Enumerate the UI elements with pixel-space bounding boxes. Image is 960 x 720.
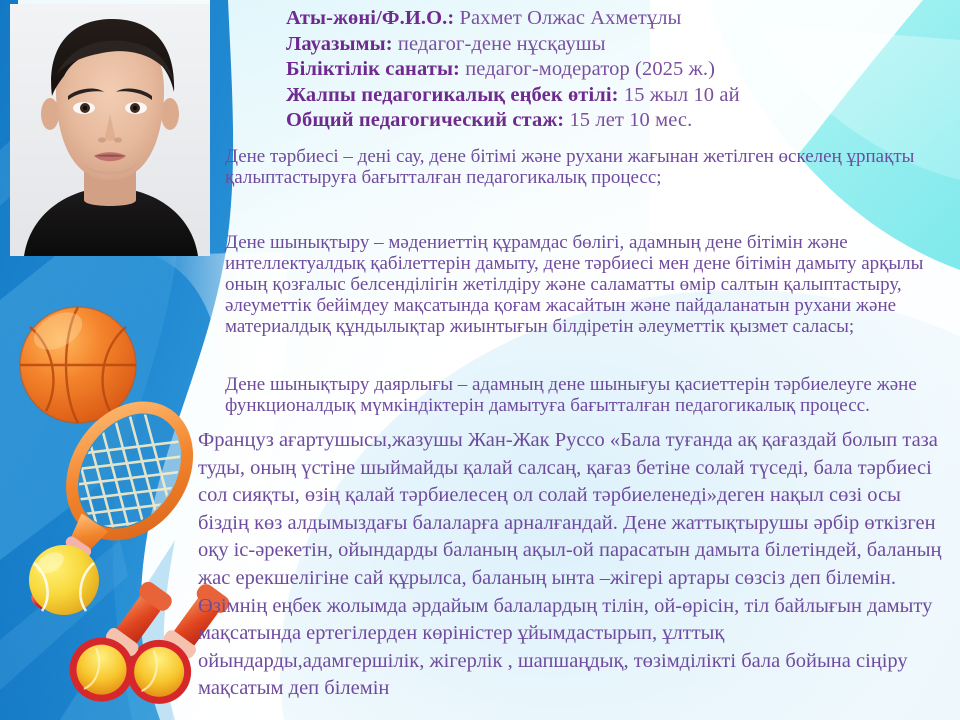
info-value-position: педагог-дене нұсқаушы [398,33,606,55]
info-label-category: Біліктілік санаты: [286,58,460,80]
info-line-experience-ru: Общий педагогический стаж: 15 лет 10 мес… [286,108,946,134]
paragraph-rousseau-quote: Француз ағартушысы,жазушы Жан-Жак Руссо … [198,427,954,703]
paragraph-physical-culture: Дене шынықтыру – мәдениеттің құрамдас бө… [225,232,947,337]
info-line-category: Біліктілік санаты: педагог-модератор (20… [286,57,946,83]
info-value-name: Рахмет Олжас Ахметұлы [460,7,682,29]
info-value-experience-ru: 15 лет 10 мес. [569,109,692,131]
info-line-name: Аты-жөні/Ф.И.О.: Рахмет Олжас Ахметұлы [286,6,946,32]
info-value-category: педагог-модератор (2025 ж.) [465,58,715,80]
paragraph-physical-training: Дене шынықтыру даярлығы – адамның дене ш… [225,374,937,416]
info-label-experience-ru: Общий педагогический стаж: [286,109,564,131]
teacher-portrait [10,4,210,256]
info-line-experience-kk: Жалпы педагогикалық еңбек өтілі: 15 жыл … [286,83,946,109]
paragraph-physical-education: Дене тәрбиесі – дені сау, дене бітімі жә… [225,146,945,188]
info-label-position: Лауазымы: [286,33,393,55]
info-label-experience-kk: Жалпы педагогикалық еңбек өтілі: [286,84,619,106]
header-info-block: Аты-жөні/Ф.И.О.: Рахмет Олжас Ахметұлы Л… [286,6,946,134]
info-label-name: Аты-жөні/Ф.И.О.: [286,7,454,29]
info-value-experience-kk: 15 жыл 10 ай [624,84,740,106]
slide-canvas: Аты-жөні/Ф.И.О.: Рахмет Олжас Ахметұлы Л… [0,0,960,720]
info-line-position: Лауазымы: педагог-дене нұсқаушы [286,32,946,58]
